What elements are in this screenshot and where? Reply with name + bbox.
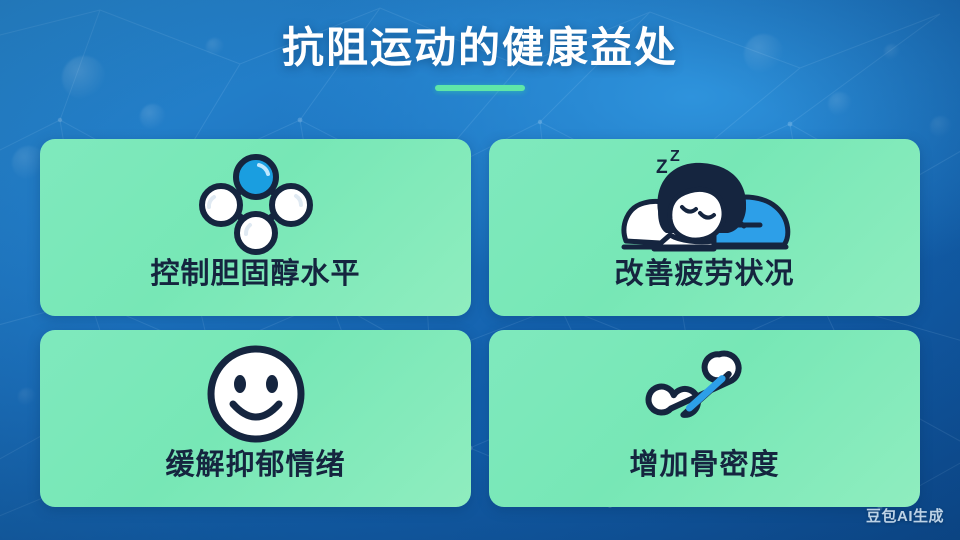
molecule-icon	[195, 149, 317, 257]
benefit-card-label: 控制胆固醇水平	[150, 259, 360, 291]
benefit-card-bone-density[interactable]: 增加骨密度	[489, 330, 920, 507]
title-underline	[435, 85, 525, 91]
title-block: 抗阻运动的健康益处	[0, 24, 960, 91]
page-title: 抗阻运动的健康益处	[0, 24, 960, 71]
smiley-face-icon	[201, 340, 311, 448]
benefits-grid: 控制胆固醇水平	[40, 139, 920, 507]
benefit-card-cholesterol[interactable]: 控制胆固醇水平	[40, 139, 471, 316]
svg-text:Z: Z	[656, 157, 668, 178]
bone-icon	[644, 340, 766, 448]
benefit-card-label: 改善疲劳状况	[614, 259, 794, 291]
watermark: 豆包AI生成	[866, 505, 944, 526]
benefit-card-fatigue[interactable]: Z Z 改善疲劳状况	[489, 139, 920, 316]
benefit-card-mood[interactable]: 缓解抑郁情绪	[40, 330, 471, 507]
sleeping-person-icon: Z Z	[610, 149, 800, 257]
svg-text:Z: Z	[670, 149, 680, 165]
benefit-card-label: 增加骨密度	[629, 450, 779, 482]
benefit-card-label: 缓解抑郁情绪	[165, 450, 345, 482]
slide-canvas: 抗阻运动的健康益处	[0, 0, 960, 540]
